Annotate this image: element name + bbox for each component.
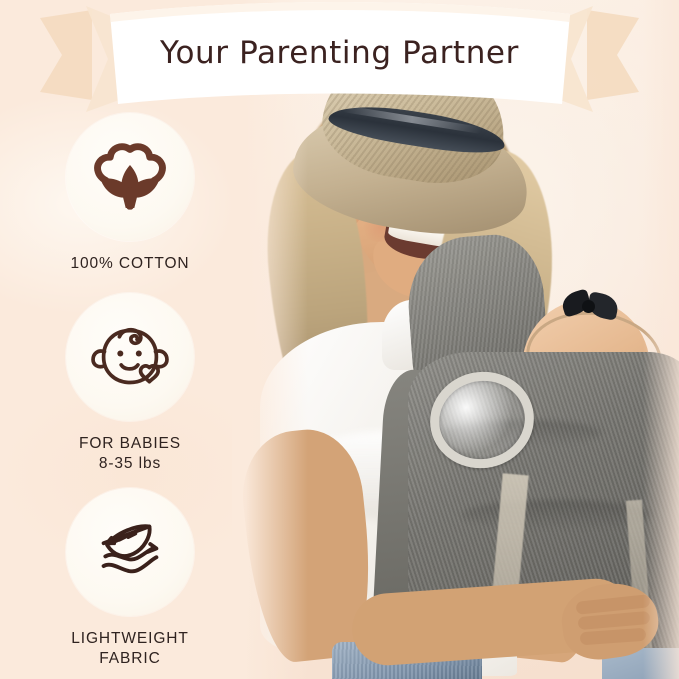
baby-smile (121, 365, 138, 369)
baby-eye-right-dot (136, 350, 142, 356)
feature-babies-circle (66, 293, 194, 421)
feature-cotton-line-1: 100% COTTON (32, 254, 228, 274)
feature-cotton-label: 100% COTTON (32, 254, 228, 274)
feature-lightweight-line-2: FABRIC (32, 649, 228, 669)
banner-title-wrap: Your Parenting Partner (0, 0, 679, 118)
feature-babies-label: FOR BABIES 8-35 lbs (32, 434, 228, 475)
cotton-leaf-left (101, 178, 125, 197)
baby-face-icon (86, 313, 174, 401)
feature-babies[interactable]: FOR BABIES 8-35 lbs (32, 293, 228, 475)
feather-fabric-icon (86, 508, 174, 596)
sling-fold-b (462, 500, 652, 530)
feature-lightweight[interactable]: LIGHTWEIGHT FABRIC (32, 488, 228, 670)
baby-bow-knot (582, 300, 595, 313)
feature-cotton-circle (66, 113, 194, 241)
feature-lightweight-circle (66, 488, 194, 616)
baby-eye-left-dot (117, 350, 123, 356)
cotton-leaf-right (135, 178, 159, 197)
feature-babies-line-1: FOR BABIES (32, 434, 228, 454)
feature-cotton[interactable]: 100% COTTON (32, 113, 228, 274)
cotton-boll-icon (87, 134, 173, 220)
feature-lightweight-label: LIGHTWEIGHT FABRIC (32, 629, 228, 670)
feature-babies-line-2: 8-35 lbs (32, 454, 228, 474)
product-feature-graphic: Your Parenting Partner 100% COTTON (0, 0, 679, 679)
page-title: Your Parenting Partner (160, 35, 519, 71)
cotton-stem (127, 187, 134, 209)
feature-lightweight-line-1: LIGHTWEIGHT (32, 629, 228, 649)
banner-ribbon: Your Parenting Partner (0, 0, 679, 118)
